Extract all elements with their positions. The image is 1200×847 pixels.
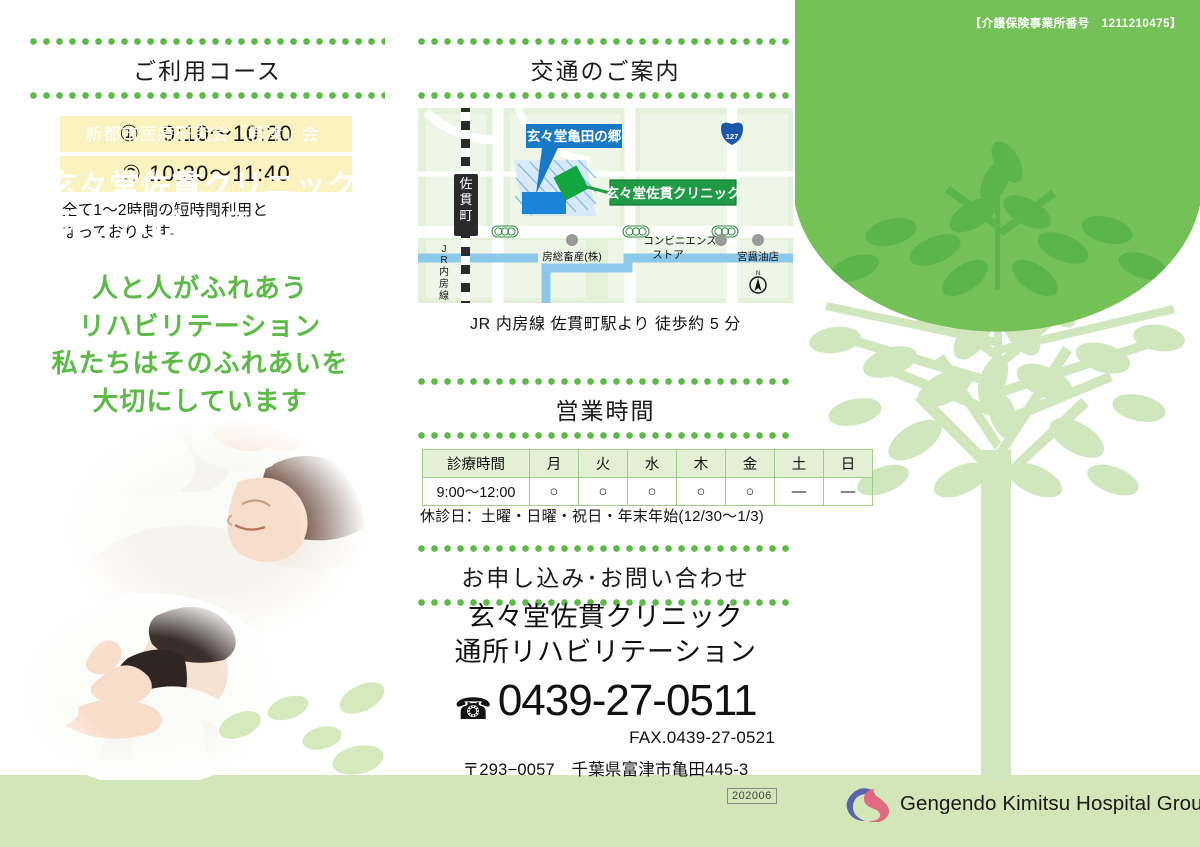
dotted-rule-bottom xyxy=(418,92,793,99)
contact-name-line-1: 玄々堂佐貫クリニック xyxy=(418,600,793,635)
cell-time: 9:00〜12:00 xyxy=(423,478,530,506)
business-hours-table: 診療時間 月 火 水 木 金 土 日 9:00〜12:00 ○ ○ ○ ○ ○ … xyxy=(422,449,873,506)
col-header-tue: 火 xyxy=(579,450,628,478)
svg-text:町: 町 xyxy=(459,208,472,223)
poi-dot xyxy=(752,234,764,246)
svg-text:貫: 貫 xyxy=(459,192,472,207)
svg-text:N: N xyxy=(756,271,760,277)
col-header-thu: 木 xyxy=(677,450,726,478)
poi-label-bososo: 房総畜産(株) xyxy=(542,250,602,263)
table-header-row: 診療時間 月 火 水 木 金 土 日 xyxy=(423,450,873,478)
brochure-page: 【介護保険事業所番号 1211210475】 医療法人 新都市医療研究会「君津」… xyxy=(0,0,1200,847)
access-section-title: 交通のご案内 xyxy=(418,45,793,92)
postal-address: 〒293−0057 千葉県富津市亀田445-3 xyxy=(418,756,793,780)
poi-dot xyxy=(566,234,578,246)
revision-code: 202006 xyxy=(727,788,777,804)
group-name-label: Gengendo Kimitsu Hospital Group xyxy=(900,792,1200,816)
dotted-rule-top xyxy=(418,545,793,552)
svg-text:線: 線 xyxy=(439,289,449,302)
telephone-icon: ☎ xyxy=(454,693,491,726)
insurance-number: 【介護保険事業所番号 1211210475】 xyxy=(970,15,1182,31)
closed-days-note: 休診日：土曜・日曜・祝日・年末年始(12/30〜1/3) xyxy=(420,505,764,526)
location-map[interactable]: 佐 貫 町 JR 内房線 玄々堂亀田の郷 xyxy=(418,108,793,303)
slogan-line-4: 大切にしています xyxy=(0,383,400,421)
col-header-sat: 土 xyxy=(775,450,824,478)
svg-text:R: R xyxy=(440,255,447,266)
dotted-rule-bottom xyxy=(418,432,793,439)
telephone-number[interactable]: 0439-27-0511 xyxy=(498,676,757,725)
svg-text:J: J xyxy=(442,244,447,255)
col-header-fri: 金 xyxy=(726,450,775,478)
gengendo-logo-icon xyxy=(845,786,891,822)
slogan-line-1: 人と人がふれあう xyxy=(0,270,400,308)
svg-text:玄々堂佐貫クリニック: 玄々堂佐貫クリニック xyxy=(606,185,741,201)
slogan-line-2: リハビリテーション xyxy=(0,308,400,346)
cell-tue: ○ xyxy=(579,478,628,506)
slogan: 人と人がふれあう リハビリテーション 私たちはそのふれあいを 大切にしています xyxy=(0,270,400,421)
page-title: 玄々堂佐貫クリニック 通所リハビリテーション xyxy=(0,168,405,247)
svg-text:内: 内 xyxy=(439,265,449,278)
access-section-header: 交通のご案内 xyxy=(418,38,793,99)
col-header-sun: 日 xyxy=(824,450,873,478)
poi-dot xyxy=(715,234,727,246)
poi-label-miya: 宮醤油店 xyxy=(737,250,779,263)
hours-section-title: 営業時間 xyxy=(418,385,793,432)
cell-sun: — xyxy=(824,478,873,506)
svg-text:127: 127 xyxy=(726,132,739,141)
cell-thu: ○ xyxy=(677,478,726,506)
corporation-line-1: 医療法人 xyxy=(0,96,405,122)
slogan-line-3: 私たちはそのふれあいを xyxy=(0,345,400,383)
col-header-time: 診療時間 xyxy=(423,450,530,478)
cell-sat: — xyxy=(775,478,824,506)
contact-section-title: お申し込み･お問い合わせ xyxy=(418,552,793,599)
cell-wed: ○ xyxy=(628,478,677,506)
hours-section-header: 営業時間 xyxy=(418,378,793,439)
col-header-wed: 水 xyxy=(628,450,677,478)
svg-text:玄々堂亀田の郷: 玄々堂亀田の郷 xyxy=(527,128,622,144)
station-marker: 佐 貫 町 xyxy=(454,174,478,236)
dotted-rule-top xyxy=(418,38,793,45)
brand-line-1: 玄々堂佐貫クリニック xyxy=(0,168,405,206)
svg-text:佐: 佐 xyxy=(459,176,472,191)
building-blue xyxy=(522,192,566,214)
brand-line-2: 通所リハビリテーション xyxy=(0,206,405,248)
poi-label-conveni-1: コンビニエンス xyxy=(643,235,716,247)
svg-text:房: 房 xyxy=(439,277,449,290)
cell-fri: ○ xyxy=(726,478,775,506)
col-header-mon: 月 xyxy=(530,450,579,478)
course-section-title: ご利用コース xyxy=(30,45,385,92)
green-header-panel xyxy=(795,0,1200,355)
contact-clinic-name: 玄々堂佐貫クリニック 通所リハビリテーション xyxy=(418,600,793,669)
contact-section-header: お申し込み･お問い合わせ xyxy=(418,545,793,606)
contact-name-line-2: 通所リハビリテーション xyxy=(418,635,793,670)
corporation-line-2: 新都市医療研究会「君津」会 xyxy=(0,122,405,148)
cell-mon: ○ xyxy=(530,478,579,506)
telephone-row[interactable]: ☎0439-27-0511 xyxy=(418,676,793,727)
group-logo: Gengendo Kimitsu Hospital Group xyxy=(845,786,1200,822)
poi-label-conveni-2: ストア xyxy=(652,249,684,261)
course-section-header: ご利用コース xyxy=(30,38,385,99)
dotted-rule-top xyxy=(30,38,385,45)
fax-number: FAX.0439-27-0521 xyxy=(418,728,793,748)
dotted-rule-top xyxy=(418,378,793,385)
map-caption: JR 内房線 佐貫町駅より 徒歩約 5 分 xyxy=(418,310,793,334)
therapy-photos xyxy=(10,420,410,780)
table-row: 9:00〜12:00 ○ ○ ○ ○ ○ — — xyxy=(423,478,873,506)
corporation-name: 医療法人 新都市医療研究会「君津」会 xyxy=(0,96,405,147)
